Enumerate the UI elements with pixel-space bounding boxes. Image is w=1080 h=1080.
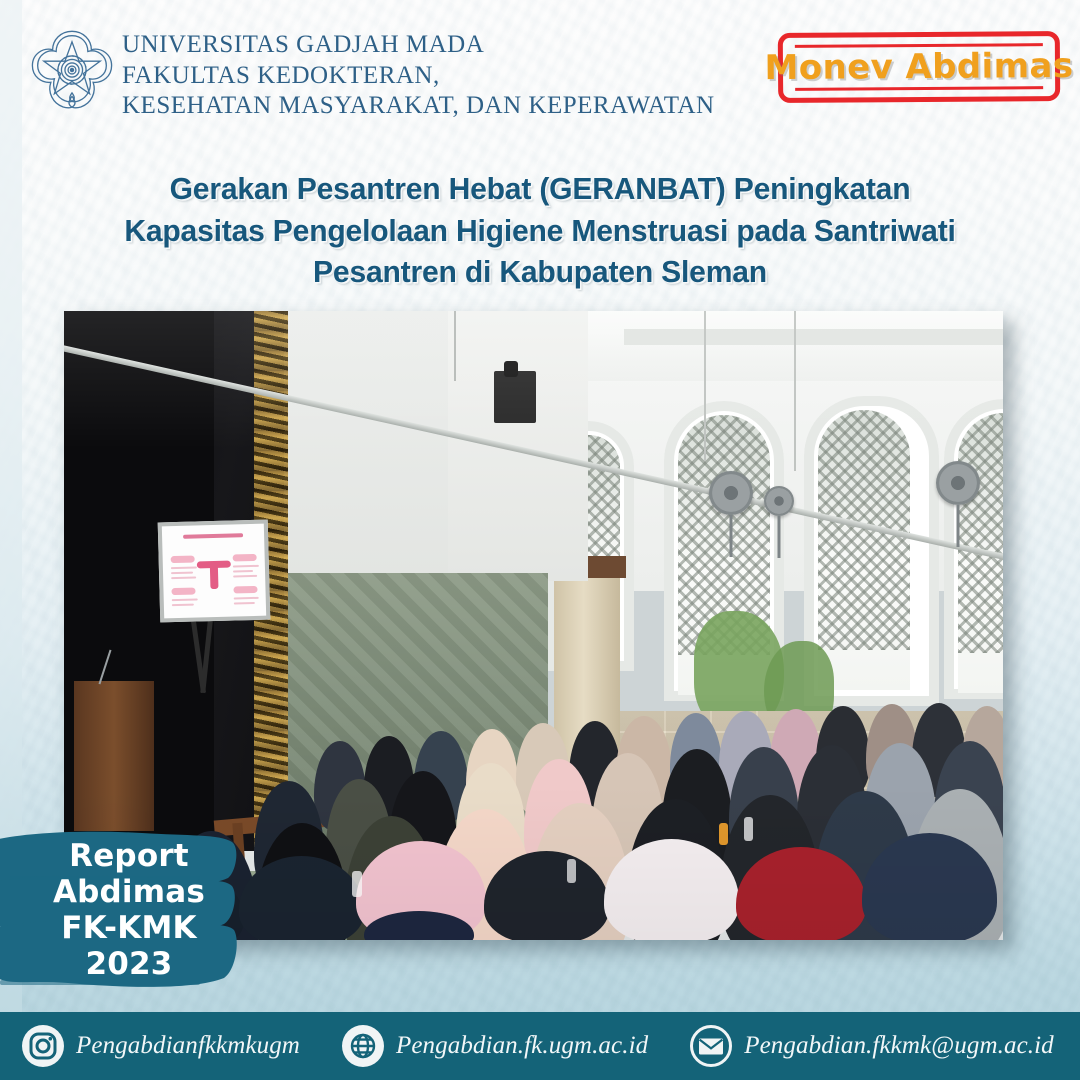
email-address: Pengabdian.fkkmk@ugm.ac.id	[744, 1032, 1054, 1060]
report-badge-line-2: Abdimas	[53, 875, 205, 911]
poster-canvas: UNIVERSITAS GADJAH MADA FAKULTAS KEDOKTE…	[0, 0, 1080, 1080]
email-icon	[690, 1025, 732, 1067]
contact-instagram[interactable]: Pengabdianfkkmkugm	[22, 1025, 300, 1067]
institution-line-1: UNIVERSITAS GADJAH MADA	[122, 30, 715, 61]
website-url: Pengabdian.fk.ugm.ac.id	[396, 1032, 648, 1060]
page-title: Gerakan Pesantren Hebat (GERANBAT) Penin…	[55, 168, 1025, 293]
institution-line-3: KESEHATAN MASYARAKAT, DAN KEPERAWATAN	[122, 91, 715, 122]
monev-abdimas-stamp: Monev Abdimas	[778, 31, 1060, 103]
ugm-crest-logo	[28, 26, 116, 114]
page-title-line-2: Kapasitas Pengelolaan Higiene Menstruasi…	[55, 210, 1025, 252]
institution-line-2: FAKULTAS KEDOKTERAN,	[122, 61, 715, 92]
institution-name: UNIVERSITAS GADJAH MADA FAKULTAS KEDOKTE…	[122, 30, 715, 122]
stamp-label: Monev Abdimas	[764, 46, 1073, 88]
contact-email[interactable]: Pengabdian.fkkmk@ugm.ac.id	[690, 1025, 1054, 1067]
page-title-line-3: Pesantren di Kabupaten Sleman	[55, 251, 1025, 293]
instagram-icon	[22, 1025, 64, 1067]
report-badge-line-3: FK-KMK	[61, 911, 196, 947]
page-title-line-1: Gerakan Pesantren Hebat (GERANBAT) Penin…	[55, 168, 1025, 210]
report-badge-line-4: 2023	[85, 947, 172, 983]
report-badge-text: Report Abdimas FK-KMK 2023	[0, 830, 244, 992]
globe-icon	[342, 1025, 384, 1067]
footer-contact-bar: Pengabdianfkkmkugm Pengabdian.fk.ugm.ac.…	[0, 1012, 1080, 1080]
contact-website[interactable]: Pengabdian.fk.ugm.ac.id	[342, 1025, 648, 1067]
header: UNIVERSITAS GADJAH MADA FAKULTAS KEDOKTE…	[0, 0, 1080, 128]
instagram-handle: Pengabdianfkkmkugm	[76, 1032, 300, 1060]
report-badge-line-1: Report	[69, 839, 189, 875]
report-badge: Report Abdimas FK-KMK 2023	[0, 830, 244, 992]
